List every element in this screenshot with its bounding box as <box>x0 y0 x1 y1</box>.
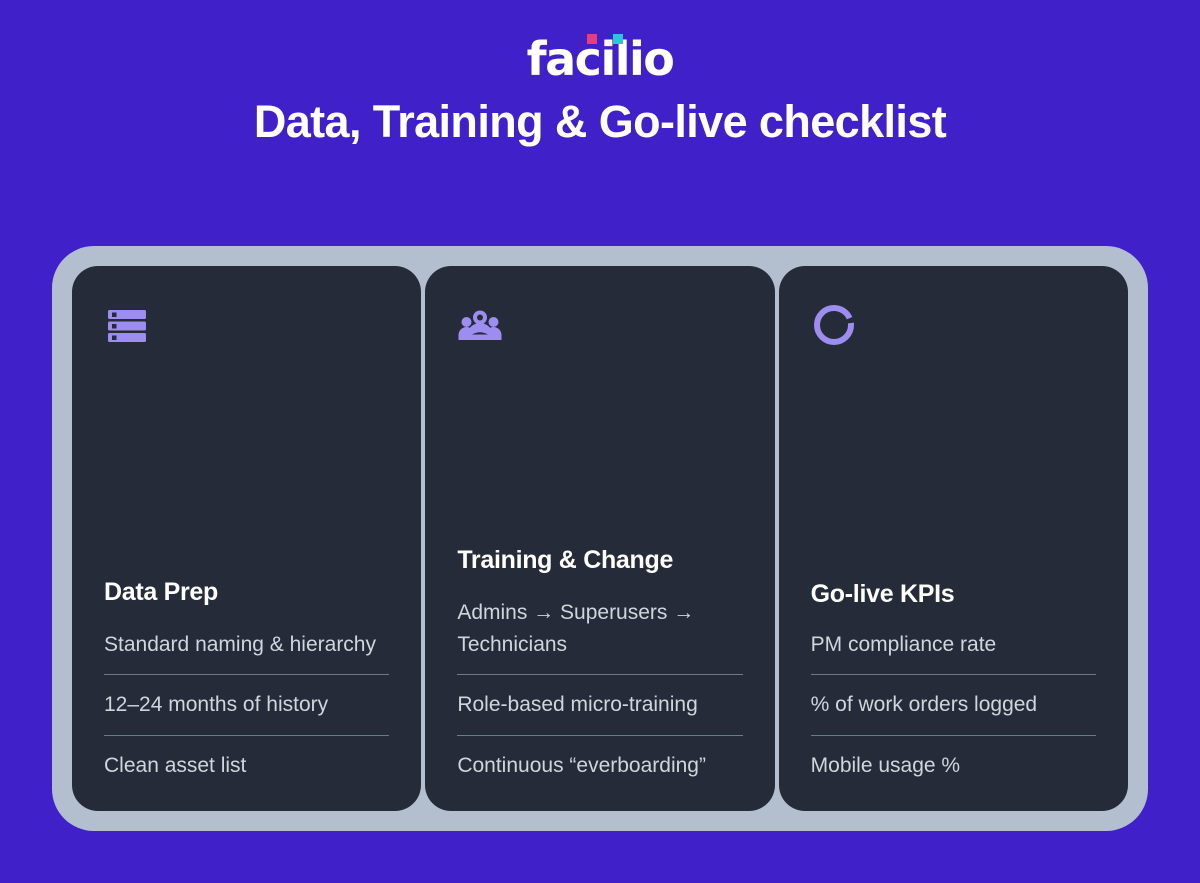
card-title: Data Prep <box>104 578 389 607</box>
checklist-card-data-prep: Data Prep Standard naming & hierarchy 12… <box>72 266 421 811</box>
checklist-frame: Data Prep Standard naming & hierarchy 12… <box>52 246 1148 831</box>
brand-logo-container: facilio <box>0 0 1200 56</box>
checklist-card-go-live-kpis: Go-live KPIs PM compliance rate % of wor… <box>779 266 1128 811</box>
checklist-card-training-change: Training & Change Admins → Superusers → … <box>425 266 774 811</box>
logo-wordmark: facilio <box>527 32 674 86</box>
database-icon <box>104 302 389 348</box>
card-item-list: Standard naming & hierarchy 12–24 months… <box>104 629 389 782</box>
card-title: Training & Change <box>457 546 742 575</box>
logo-i-dot-icon <box>587 34 597 44</box>
list-item: Standard naming & hierarchy <box>104 629 389 676</box>
card-title: Go-live KPIs <box>811 580 1096 609</box>
list-item: 12–24 months of history <box>104 675 389 736</box>
card-spacer <box>457 356 742 546</box>
list-item: Role-based micro-training <box>457 675 742 736</box>
card-item-list: Admins → Superusers → Technicians Role-b… <box>457 597 742 781</box>
list-item: % of work orders logged <box>811 675 1096 736</box>
list-item: PM compliance rate <box>811 629 1096 676</box>
list-item: Clean asset list <box>104 736 389 782</box>
logo-l-square-icon <box>613 34 623 44</box>
people-group-icon <box>457 302 742 348</box>
facilio-logo: facilio <box>527 36 674 82</box>
list-item: Mobile usage % <box>811 736 1096 782</box>
list-item: Continuous “everboarding” <box>457 736 742 782</box>
donut-chart-icon <box>811 302 1096 348</box>
card-item-list: PM compliance rate % of work orders logg… <box>811 629 1096 782</box>
card-spacer <box>104 356 389 578</box>
list-item: Admins → Superusers → Technicians <box>457 597 742 675</box>
card-spacer <box>811 356 1096 580</box>
